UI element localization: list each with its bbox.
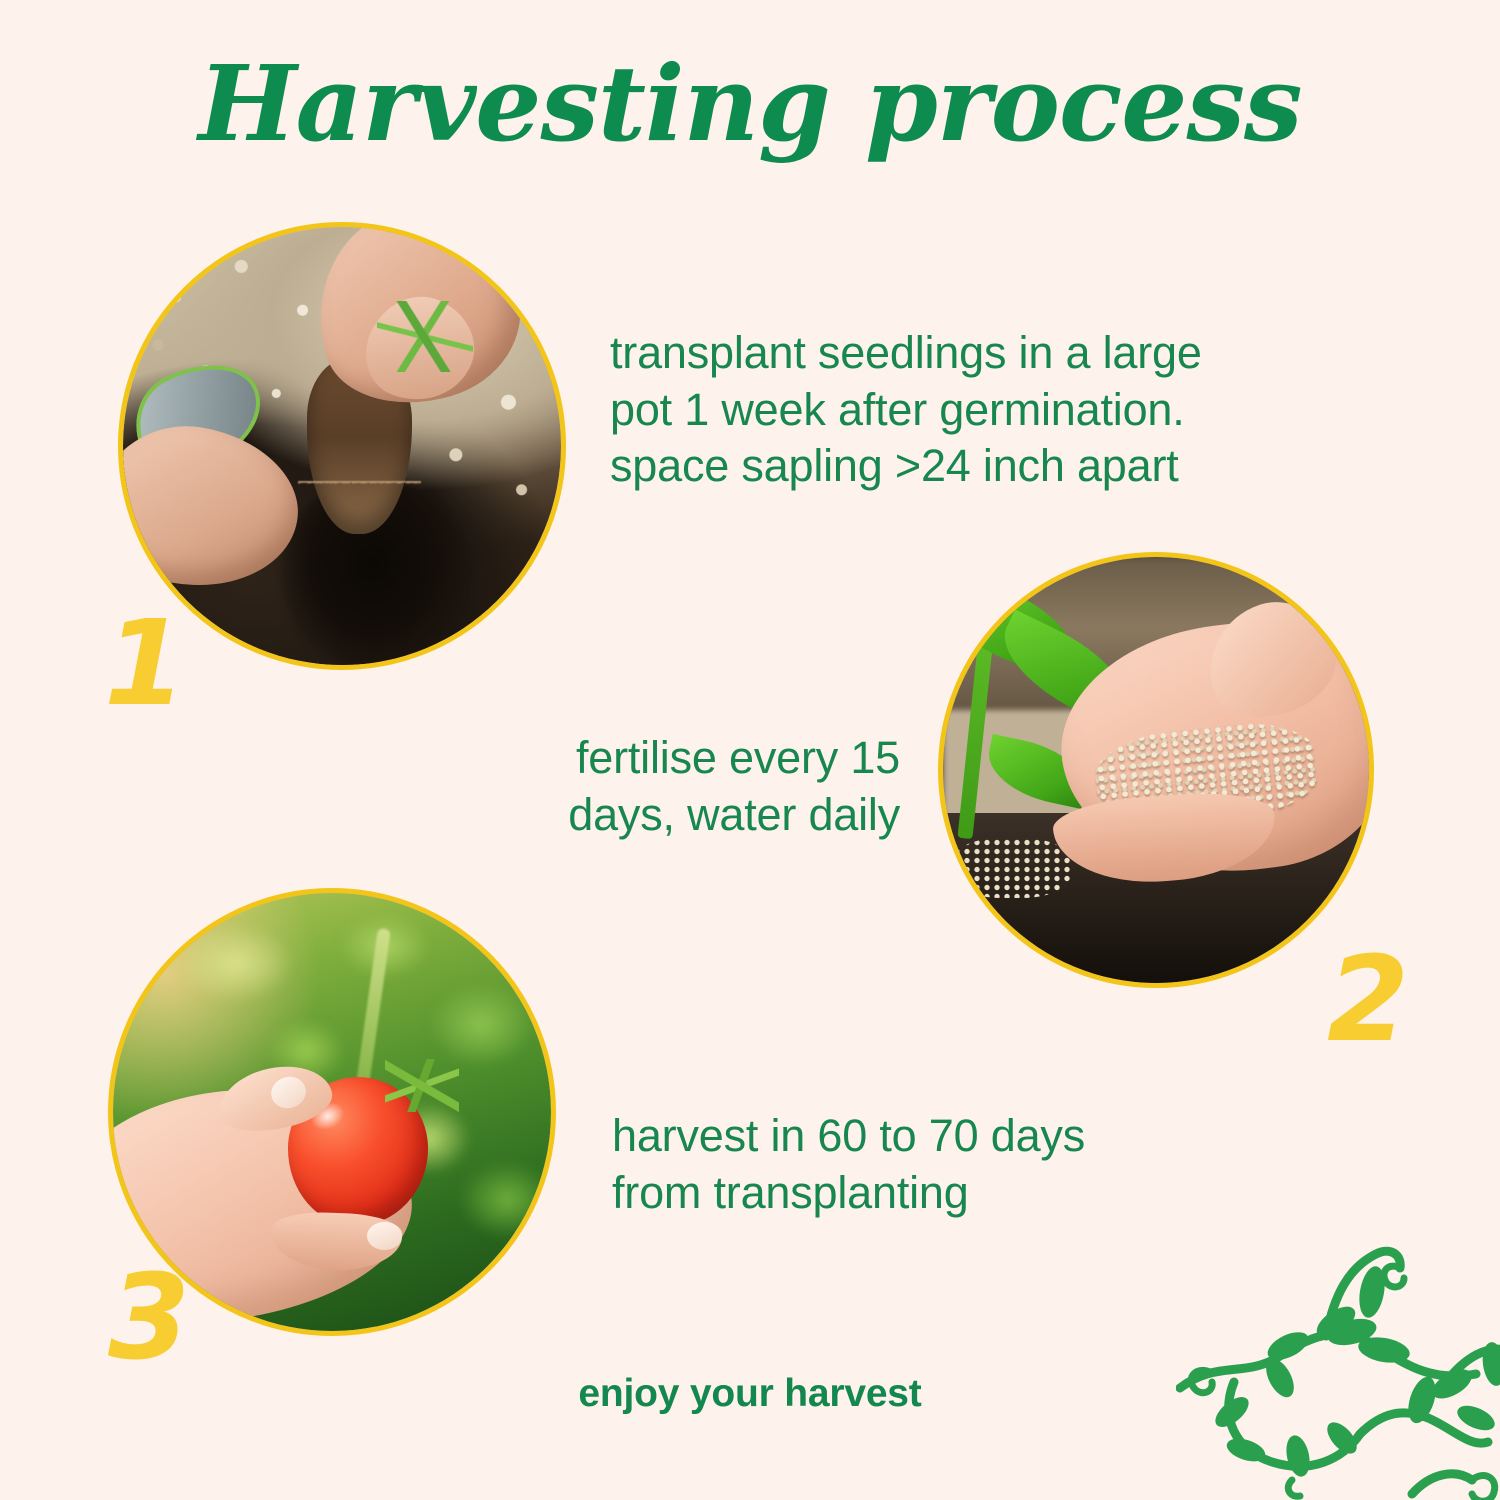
tomato-calyx xyxy=(385,1059,459,1112)
footer-note: enjoy your harvest xyxy=(0,1372,1500,1416)
step-number-3: 3 xyxy=(108,1258,190,1376)
photo-transplanting-seedling xyxy=(123,227,561,665)
photo-fertilising-seedling xyxy=(943,557,1369,983)
vine-illustration xyxy=(1176,1150,1500,1500)
step-3-text: harvest in 60 to 70 days from transplant… xyxy=(612,1108,1132,1221)
root-hairs xyxy=(298,481,421,612)
poster-canvas: Harvesting process 1 transplant seedling… xyxy=(0,0,1500,1500)
granules-on-soil xyxy=(952,838,1071,898)
step-number-2: 2 xyxy=(1327,940,1409,1058)
step-1-text: transplant seedlings in a large pot 1 we… xyxy=(610,325,1270,495)
step-2-text: fertilise every 15 days, water daily xyxy=(460,730,900,843)
seedling-sprout xyxy=(377,301,473,371)
step-2-image xyxy=(938,552,1374,988)
page-title: Harvesting process xyxy=(0,42,1500,165)
fingernail xyxy=(367,1222,402,1250)
step-number-1: 1 xyxy=(104,604,186,722)
